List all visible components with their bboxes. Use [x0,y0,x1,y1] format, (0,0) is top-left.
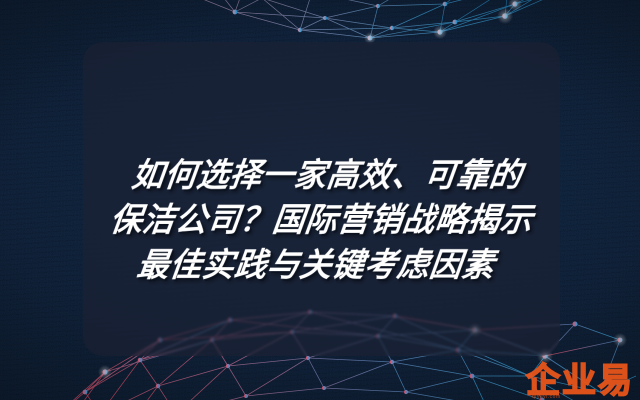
headline-line-2: 保洁公司？国际营销战略揭示 [87,197,555,242]
headline-line-1: 如何选择一家高效、可靠的 [93,152,561,197]
qiyeyi-logo-watermark: 企业易 qiyeyi.com [526,364,634,398]
watermark-text: 企业易 [526,364,634,398]
page-title: 如何选择一家高效、可靠的 保洁公司？国际营销战略揭示 最佳实践与关键考虑因素 [75,152,569,287]
headline-line-3: 最佳实践与关键考虑因素 [82,242,550,287]
watermark-subtext: qiyeyi.com [532,395,561,400]
poster-canvas: 如何选择一家高效、可靠的 保洁公司？国际营销战略揭示 最佳实践与关键考虑因素 企… [0,0,640,400]
